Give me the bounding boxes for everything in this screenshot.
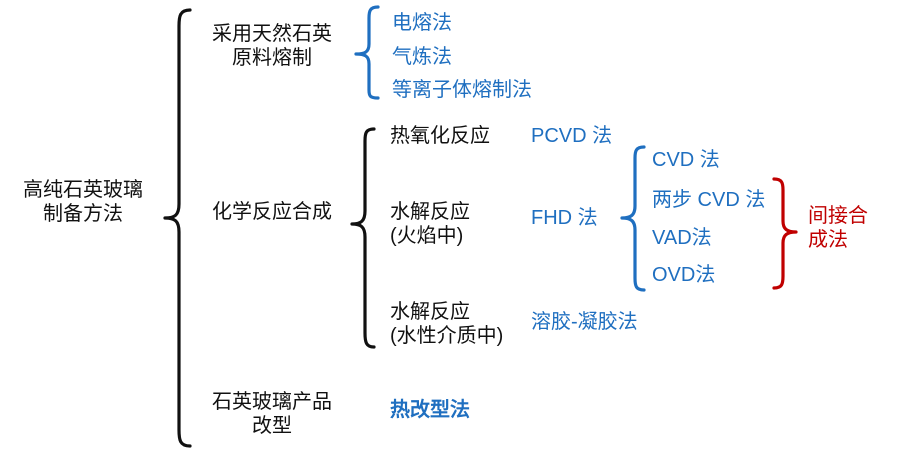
indirect-synthesis-brace [770, 176, 804, 292]
fhd-brace [614, 144, 648, 294]
leaf-plasma-melting: 等离子体熔制法 [392, 78, 632, 102]
root-brace [160, 6, 196, 450]
group-label-indirect-synthesis: 间接合 成法 [808, 204, 900, 253]
method-fhd: FHD 法 [531, 206, 671, 230]
leaf-two-step-cvd: 两步 CVD 法 [652, 188, 832, 212]
leaf-thermal-reforming: 热改型法 [390, 398, 590, 422]
leaf-electric-melting: 电熔法 [392, 11, 612, 35]
natural-quartz-brace [348, 4, 382, 100]
leaf-cvd: CVD 法 [652, 148, 822, 172]
leaf-gas-refining: 气炼法 [392, 45, 612, 69]
level1-node-product-modification: 石英玻璃产品 改型 [192, 390, 352, 439]
level1-node-natural-quartz: 采用天然石英 原料熔制 [192, 22, 352, 71]
chemical-synthesis-brace [344, 126, 378, 352]
method-pcvd: PCVD 法 [531, 124, 671, 148]
root-node-label: 高纯石英玻璃 制备方法 [4, 178, 162, 227]
method-sol-gel: 溶胶-凝胶法 [531, 310, 711, 334]
level1-node-chemical-synthesis: 化学反应合成 [192, 200, 352, 224]
mindmap-diagram: 高纯石英玻璃 制备方法 采用天然石英 原料熔制 化学反应合成 石英玻璃产品 改型… [0, 0, 900, 452]
